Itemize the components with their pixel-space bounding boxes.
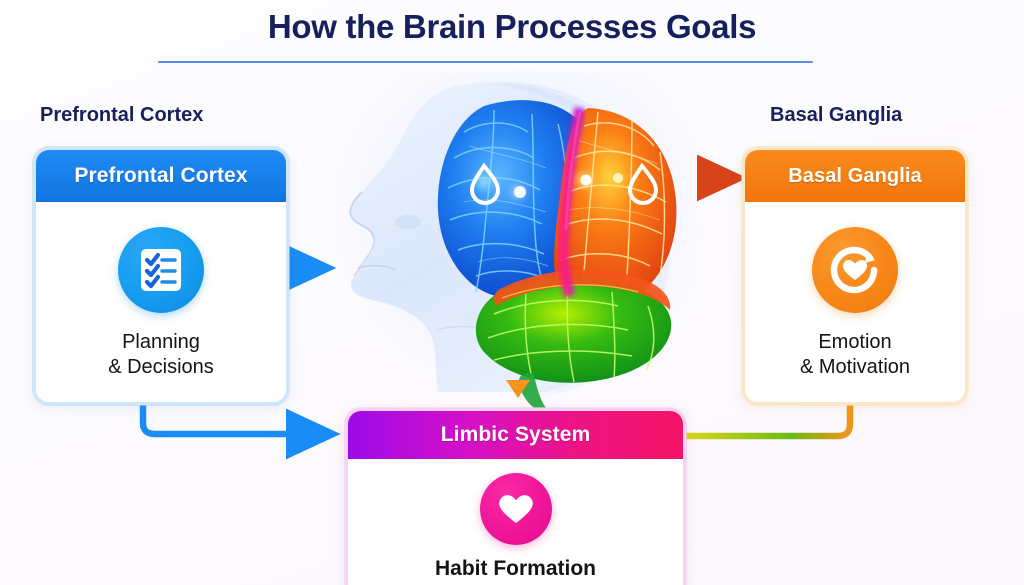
card-body-basal-ganglia: Emotion & Motivation bbox=[745, 202, 965, 402]
checklist-icon bbox=[135, 244, 187, 296]
heart-icon-circle bbox=[480, 473, 552, 545]
outer-label-basal-ganglia: Basal Ganglia bbox=[770, 104, 902, 127]
card-body-prefrontal-cortex: Planning & Decisions bbox=[36, 202, 286, 402]
brain-illustration bbox=[288, 62, 728, 412]
card-basal-ganglia[interactable]: Basal Ganglia Emotion & Motivation bbox=[742, 147, 968, 405]
card-header-limbic-system: Limbic System bbox=[348, 411, 683, 459]
caption-line-2: & Decisions bbox=[108, 355, 214, 380]
infographic-canvas: How the Brain Processes Goals Prefrontal… bbox=[0, 0, 1024, 585]
brain-svg bbox=[288, 62, 728, 412]
card-prefrontal-cortex[interactable]: Prefrontal Cortex bbox=[33, 147, 289, 405]
card-header-basal-ganglia: Basal Ganglia bbox=[745, 150, 965, 202]
heart-icon bbox=[494, 487, 538, 531]
heart-cycle-icon-circle bbox=[812, 227, 898, 313]
caption-line-1: Planning bbox=[108, 330, 214, 355]
caption-line-1: Emotion bbox=[800, 330, 910, 355]
caption-line-2: & Motivation bbox=[800, 355, 910, 380]
heart-cycle-icon bbox=[826, 241, 884, 299]
page-title: How the Brain Processes Goals bbox=[0, 8, 1024, 46]
card-header-prefrontal-cortex: Prefrontal Cortex bbox=[36, 150, 286, 202]
outer-label-prefrontal-cortex: Prefrontal Cortex bbox=[40, 104, 203, 127]
card-limbic-system[interactable]: Limbic System Habit Formation bbox=[345, 408, 686, 585]
card-caption-limbic-system: Habit Formation bbox=[435, 556, 596, 582]
card-body-limbic-system: Habit Formation bbox=[348, 459, 683, 585]
card-caption-basal-ganglia: Emotion & Motivation bbox=[800, 330, 910, 380]
checklist-icon-circle bbox=[118, 227, 204, 313]
card-caption-prefrontal-cortex: Planning & Decisions bbox=[108, 330, 214, 380]
